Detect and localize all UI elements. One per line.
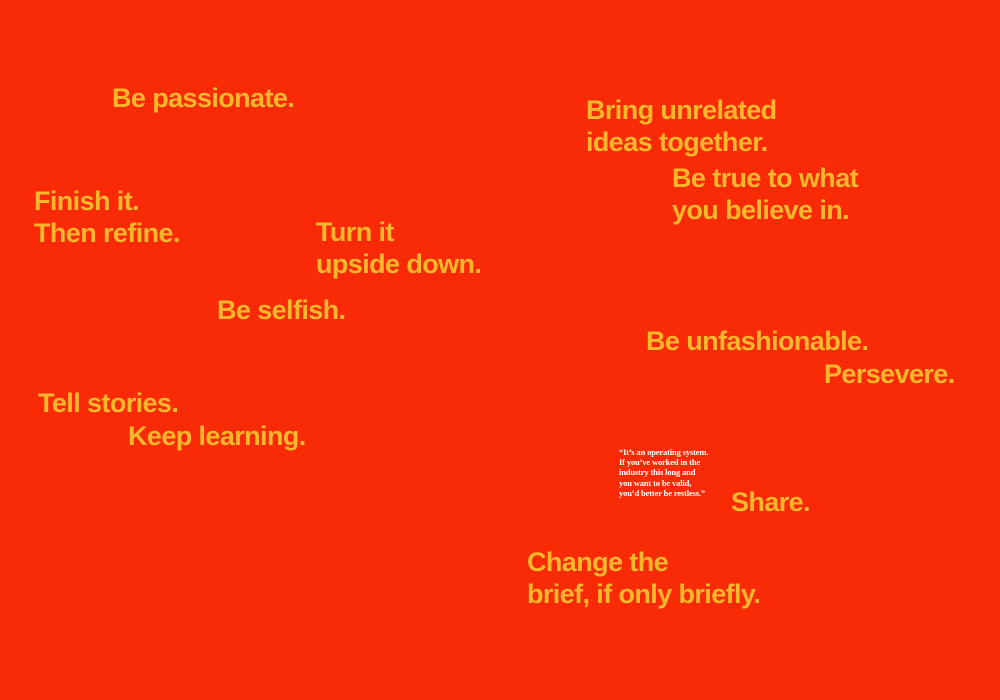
maxim-bring-unrelated-ideas-together: Bring unrelated ideas together. xyxy=(586,94,777,158)
maxim-share: Share. xyxy=(731,486,810,518)
maxim-be-unfashionable: Be unfashionable. xyxy=(646,325,868,357)
maxim-keep-learning: Keep learning. xyxy=(128,420,306,452)
maxim-be-selfish: Be selfish. xyxy=(217,294,345,326)
pull-quote: “It’s an operating system. If you’ve wor… xyxy=(619,447,715,498)
maxim-be-passionate: Be passionate. xyxy=(112,82,294,114)
maxim-change-the-brief: Change the brief, if only briefly. xyxy=(527,546,760,610)
maxim-be-true-to-what-you-believe-in: Be true to what you believe in. xyxy=(672,162,858,226)
maxim-persevere: Persevere. xyxy=(824,358,955,390)
maxim-finish-it: Finish it. Then refine. xyxy=(34,185,180,249)
maxim-turn-it-upside-down: Turn it upside down. xyxy=(316,216,481,280)
poster-canvas: Be passionate. Finish it. Then refine. T… xyxy=(0,0,1000,700)
maxim-tell-stories: Tell stories. xyxy=(38,387,178,419)
